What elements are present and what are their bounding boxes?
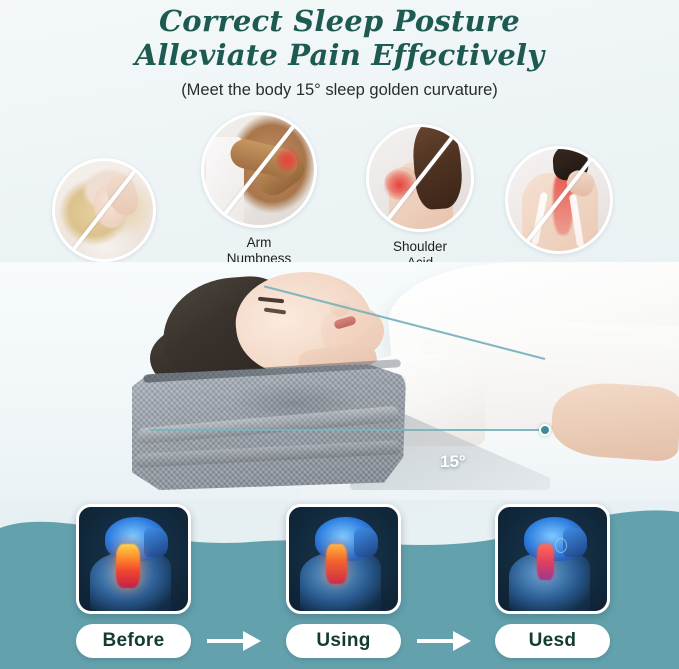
circle-wrap <box>366 124 474 232</box>
photo-hair <box>411 124 464 210</box>
symptom-arm-numbness: Arm Numbness <box>201 112 317 267</box>
angle-line-base <box>150 429 546 431</box>
memory-foam-pillow <box>132 364 406 490</box>
xray-inflamed-neck <box>116 544 140 588</box>
page-subtitle: (Meet the body 15° sleep golden curvatur… <box>0 79 679 101</box>
xray-inflamed-neck <box>326 544 347 584</box>
crossed-out-neck-pain-photo <box>505 146 613 254</box>
xray-face <box>563 528 587 557</box>
step-label-using: Using <box>286 624 401 658</box>
comparison-panel-before <box>76 504 191 614</box>
symptom-shoulder-acid: Shoulder Acid <box>366 124 474 271</box>
page-title-line1: Correct Sleep Posture <box>0 0 679 38</box>
infographic-page: Correct Sleep Posture Alleviate Pain Eff… <box>0 0 679 669</box>
xray-inflamed-neck <box>537 544 553 579</box>
crossed-out-arm-numbness-photo <box>201 112 317 228</box>
step-label-used: Uesd <box>495 624 610 658</box>
hero-photo: 15° <box>0 262 679 500</box>
pillow-contour-ridge <box>135 440 401 468</box>
step-label-before: Before <box>76 624 191 658</box>
crossed-out-headache-photo <box>52 158 156 262</box>
angle-vertex-dot <box>539 424 551 436</box>
page-title-line2: Alleviate Pain Effectively <box>0 38 679 72</box>
circle-wrap <box>52 158 156 262</box>
circle-wrap <box>505 146 613 254</box>
arrow-right-icon <box>205 628 263 654</box>
xray-ear <box>555 538 567 553</box>
comparison-panel-used <box>495 504 610 614</box>
pain-highlight <box>274 148 300 172</box>
arrow-right-icon <box>415 628 473 654</box>
xray-face <box>144 528 168 557</box>
header: Correct Sleep Posture Alleviate Pain Eff… <box>0 0 679 101</box>
pillow-body <box>132 364 406 490</box>
comparison-panel-using <box>286 504 401 614</box>
crossed-out-shoulder-pain-photo <box>366 124 474 232</box>
angle-label: 15° <box>440 452 466 472</box>
before-after-comparison: Before Using Uesd <box>0 500 679 669</box>
xray-face <box>354 528 378 557</box>
circle-wrap <box>201 112 317 228</box>
